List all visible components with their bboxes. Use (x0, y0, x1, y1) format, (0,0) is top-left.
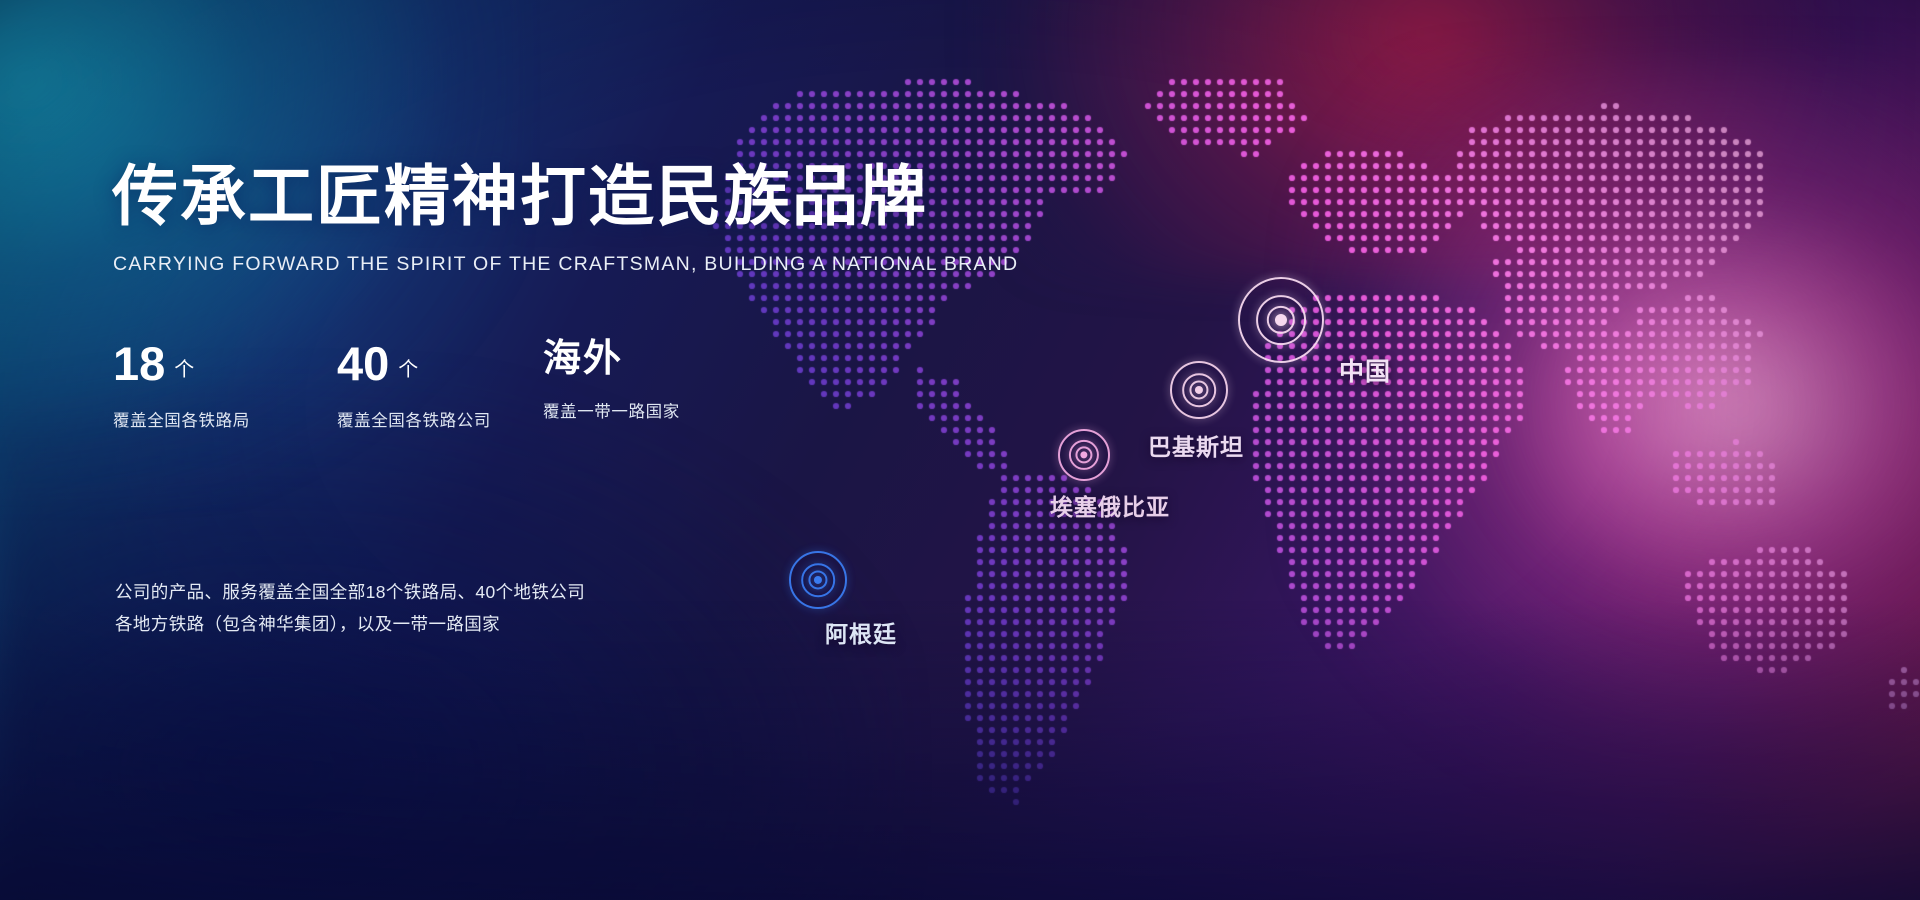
stat-caption: 覆盖一带一路国家 (543, 398, 680, 422)
stat-unit: 个 (398, 353, 418, 382)
page-title: 传承工匠精神打造民族品牌 (112, 163, 928, 229)
stat-value: 海外 (543, 340, 623, 378)
stat-caption: 覆盖全国各铁路局 (113, 407, 250, 431)
stat-item: 40个覆盖全国各铁路公司 (337, 340, 491, 431)
stat-unit: 个 (174, 353, 194, 382)
map-marker-label-pakistan: 巴基斯坦 (1148, 428, 1244, 462)
stat-value: 18 (113, 340, 165, 387)
stat-caption: 覆盖全国各铁路公司 (337, 407, 491, 431)
page-subtitle: CARRYING FORWARD THE SPIRIT OF THE CRAFT… (113, 253, 1018, 276)
description-line: 各地方铁路（包含神华集团），以及一带一路国家 (115, 608, 585, 640)
stat-item: 海外覆盖一带一路国家 (543, 340, 680, 422)
stat-item: 18个覆盖全国各铁路局 (113, 340, 250, 431)
stat-value: 40 (337, 340, 389, 387)
map-marker-label-china: 中国 (1339, 352, 1391, 388)
description-paragraph: 公司的产品、服务覆盖全国全部18个铁路局、40个地铁公司各地方铁路（包含神华集团… (115, 576, 585, 640)
content-block: 传承工匠精神打造民族品牌 CARRYING FORWARD THE SPIRIT… (0, 0, 1100, 900)
description-line: 公司的产品、服务覆盖全国全部18个铁路局、40个地铁公司 (115, 576, 585, 608)
banner-stage: 中国巴基斯坦埃塞俄比亚阿根廷 传承工匠精神打造民族品牌 CARRYING FOR… (0, 0, 1920, 900)
